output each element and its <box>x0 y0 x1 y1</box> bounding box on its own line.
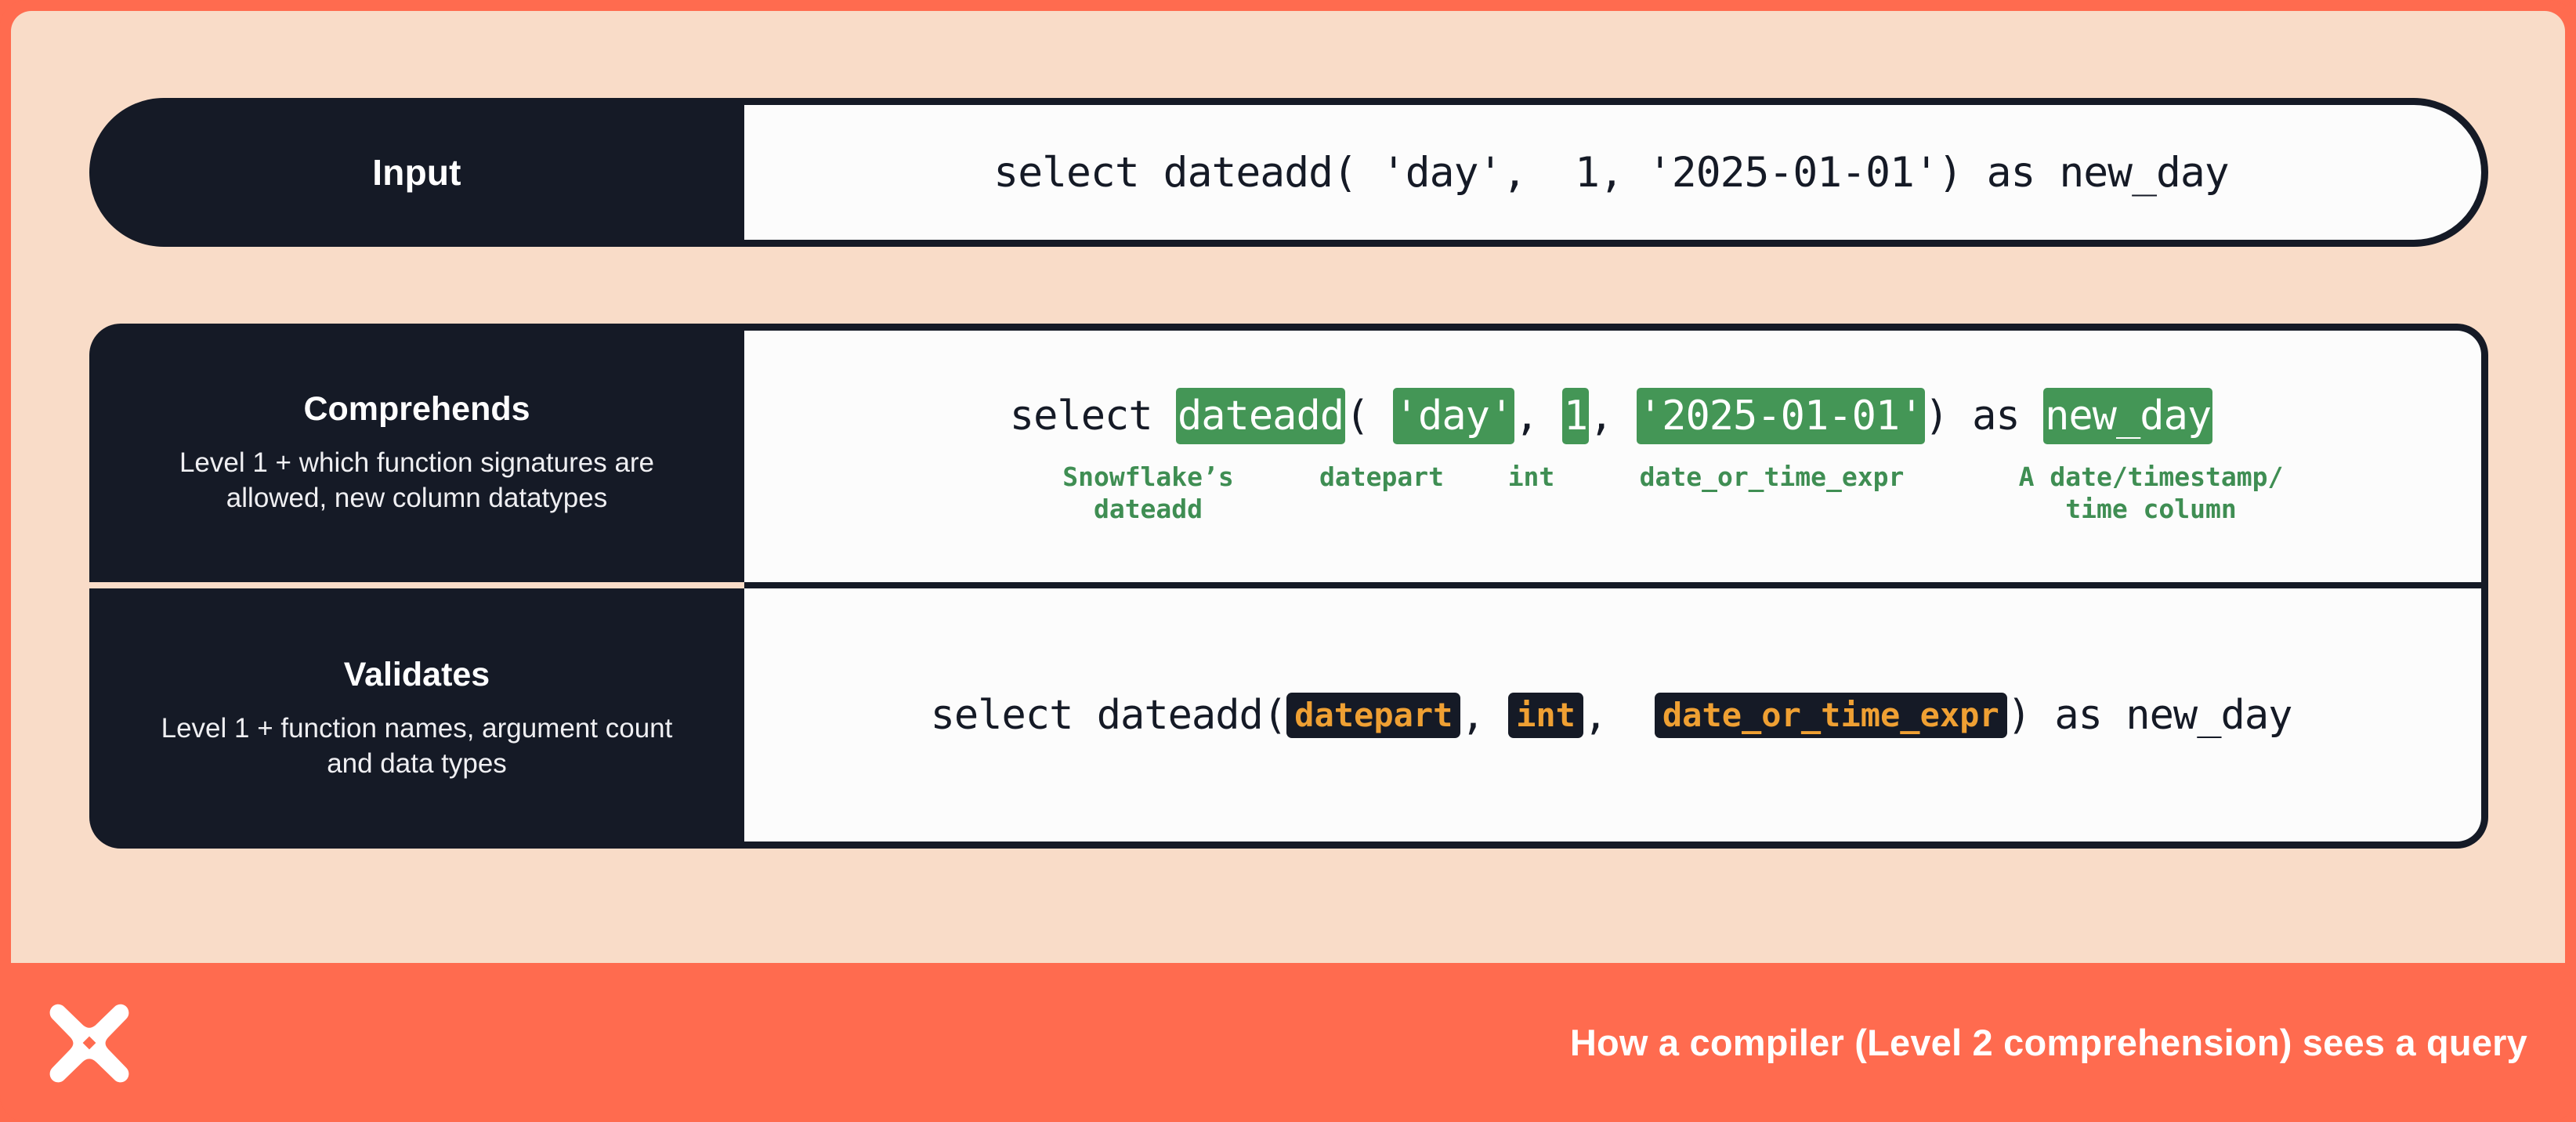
annotation-dateadd: Snowflake’s dateadd <box>1019 461 1278 525</box>
chip-datepart: datepart <box>1286 693 1460 738</box>
code-token: , <box>1514 393 1562 440</box>
validates-label: Validates Level 1 + function names, argu… <box>89 588 744 849</box>
input-label-text: Input <box>372 151 461 194</box>
code-token: select dateadd( <box>931 692 1287 739</box>
code-token: ( <box>1333 149 1381 197</box>
four-point-star-logo-icon <box>45 999 133 1087</box>
footer-caption: How a compiler (Level 2 comprehension) s… <box>1570 1021 2527 1064</box>
code-token: , <box>1599 149 1648 197</box>
highlight-datepart: 'day' <box>1393 388 1515 444</box>
code-token-alias: new_day <box>2059 149 2228 197</box>
input-code-line: select dateadd( 'day', 1, '2025-01-01') … <box>741 149 2481 197</box>
comprehends-row: Comprehends Level 1 + which function sig… <box>89 324 2488 582</box>
code-token: , <box>1583 692 1655 739</box>
comprehends-code-line: select dateadd( 'day', 1, '2025-01-01') … <box>741 388 2481 444</box>
highlight-function-dateadd: dateadd <box>1176 388 1345 444</box>
code-token-datepart: 'day' <box>1381 149 1503 197</box>
poster-canvas: Input select dateadd( 'day', 1, '2025-01… <box>11 11 2565 963</box>
comprehends-label: Comprehends Level 1 + which function sig… <box>89 324 744 582</box>
annotation-datepart: datepart <box>1284 461 1480 525</box>
comprehends-title: Comprehends <box>303 390 530 429</box>
code-token: ( <box>1345 393 1393 440</box>
validates-title: Validates <box>344 656 490 694</box>
poster: Input select dateadd( 'day', 1, '2025-01… <box>0 0 2576 1122</box>
input-row: Input select dateadd( 'day', 1, '2025-01… <box>89 98 2488 247</box>
chip-date-or-time-expr: date_or_time_expr <box>1655 693 2007 738</box>
row-divider <box>744 582 2488 588</box>
code-token: ) as <box>1938 149 2060 197</box>
footer-bar: How a compiler (Level 2 comprehension) s… <box>0 963 2576 1122</box>
validates-subtitle: Level 1 + function names, argument count… <box>143 711 691 782</box>
code-token: , <box>1589 393 1637 440</box>
annotation-date-expr: date_or_time_expr <box>1588 461 1956 525</box>
input-row-label: Input <box>89 98 744 247</box>
comprehends-code-panel: select dateadd( 'day', 1, '2025-01-01') … <box>741 324 2488 582</box>
highlight-alias-new-day: new_day <box>2043 388 2212 444</box>
highlight-date-expr: '2025-01-01' <box>1637 388 1925 444</box>
input-code-panel: select dateadd( 'day', 1, '2025-01-01') … <box>741 98 2488 247</box>
annotation-int: int <box>1485 461 1579 525</box>
code-token: select <box>993 149 1163 197</box>
code-token-function: dateadd <box>1163 149 1333 197</box>
chip-int: int <box>1508 693 1583 738</box>
code-token-int: 1 <box>1575 149 1599 197</box>
code-token: , <box>1502 149 1575 197</box>
code-token: ) as new_day <box>2007 692 2292 739</box>
code-token: ) as <box>1925 393 2044 440</box>
code-token-date-expr: '2025-01-01' <box>1648 149 1938 197</box>
highlight-int: 1 <box>1562 388 1589 444</box>
code-token: , <box>1460 692 1508 739</box>
code-token: select <box>1010 393 1176 440</box>
levels-card: Comprehends Level 1 + which function sig… <box>89 324 2488 849</box>
comprehends-annotations: Snowflake’s dateadd datepart int date_or… <box>741 461 2481 525</box>
annotation-new-day: A date/timestamp/ time column <box>1967 461 2335 525</box>
validates-code-line: select dateadd(datepart, int, date_or_ti… <box>741 692 2481 739</box>
validates-row: Validates Level 1 + function names, argu… <box>89 588 2488 849</box>
validates-code-panel: select dateadd(datepart, int, date_or_ti… <box>741 588 2488 849</box>
comprehends-subtitle: Level 1 + which function signatures are … <box>143 446 691 516</box>
